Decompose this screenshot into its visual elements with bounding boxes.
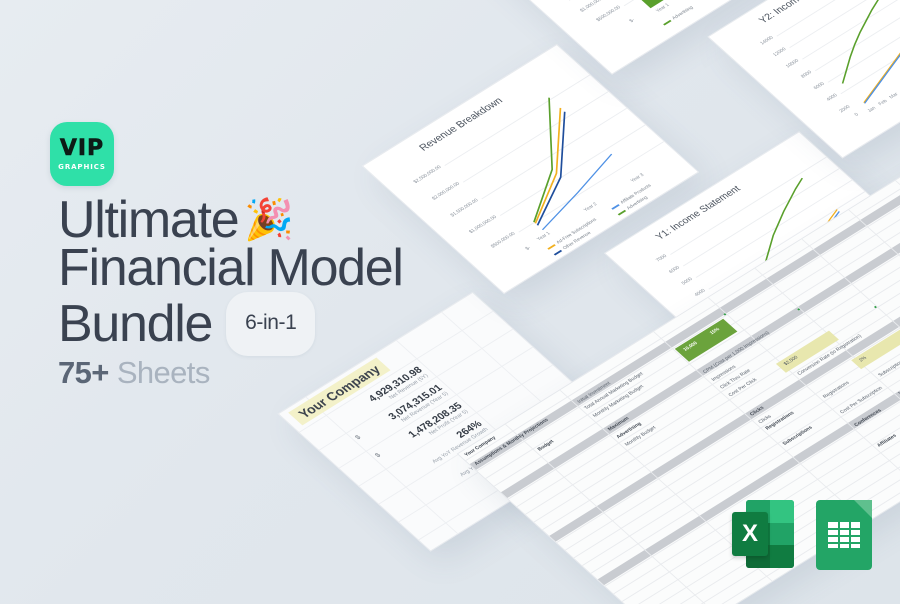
hero-canvas: Your Company 4,929,310.98 Net Revenue (5… [0,0,900,604]
logo-wordmark: VIP [60,138,104,160]
file-format-icons: X [732,500,872,570]
hero-headline: Ultimate 🎉 Financial Model Bundle 6-in-1 [58,196,488,356]
sheet-count-number: 75+ [58,355,109,390]
y2-income-lines [709,0,900,158]
sheet-count-word: Sheets [117,355,210,390]
kpi-currency: $ [354,434,362,440]
row-label: Registrations [822,380,851,399]
sheet-count-subtitle: 75+ Sheets [58,355,210,391]
excel-x-glyph: X [732,512,768,556]
vip-graphics-logo: VIP GRAPHICS [50,122,114,186]
logo-subtext: GRAPHICS [58,163,106,171]
headline-line-3: Bundle [58,300,212,348]
sheets-table-glyph [828,522,860,548]
headline-line-1: Ultimate [58,196,238,244]
party-popper-icon: 🎉 [244,200,293,240]
google-sheets-icon [816,500,872,570]
headline-line-2: Financial Model [58,244,488,292]
microsoft-excel-icon: X [732,500,794,568]
bundle-count-badge: 6-in-1 [226,292,315,356]
kpi-currency: $ [374,452,382,458]
